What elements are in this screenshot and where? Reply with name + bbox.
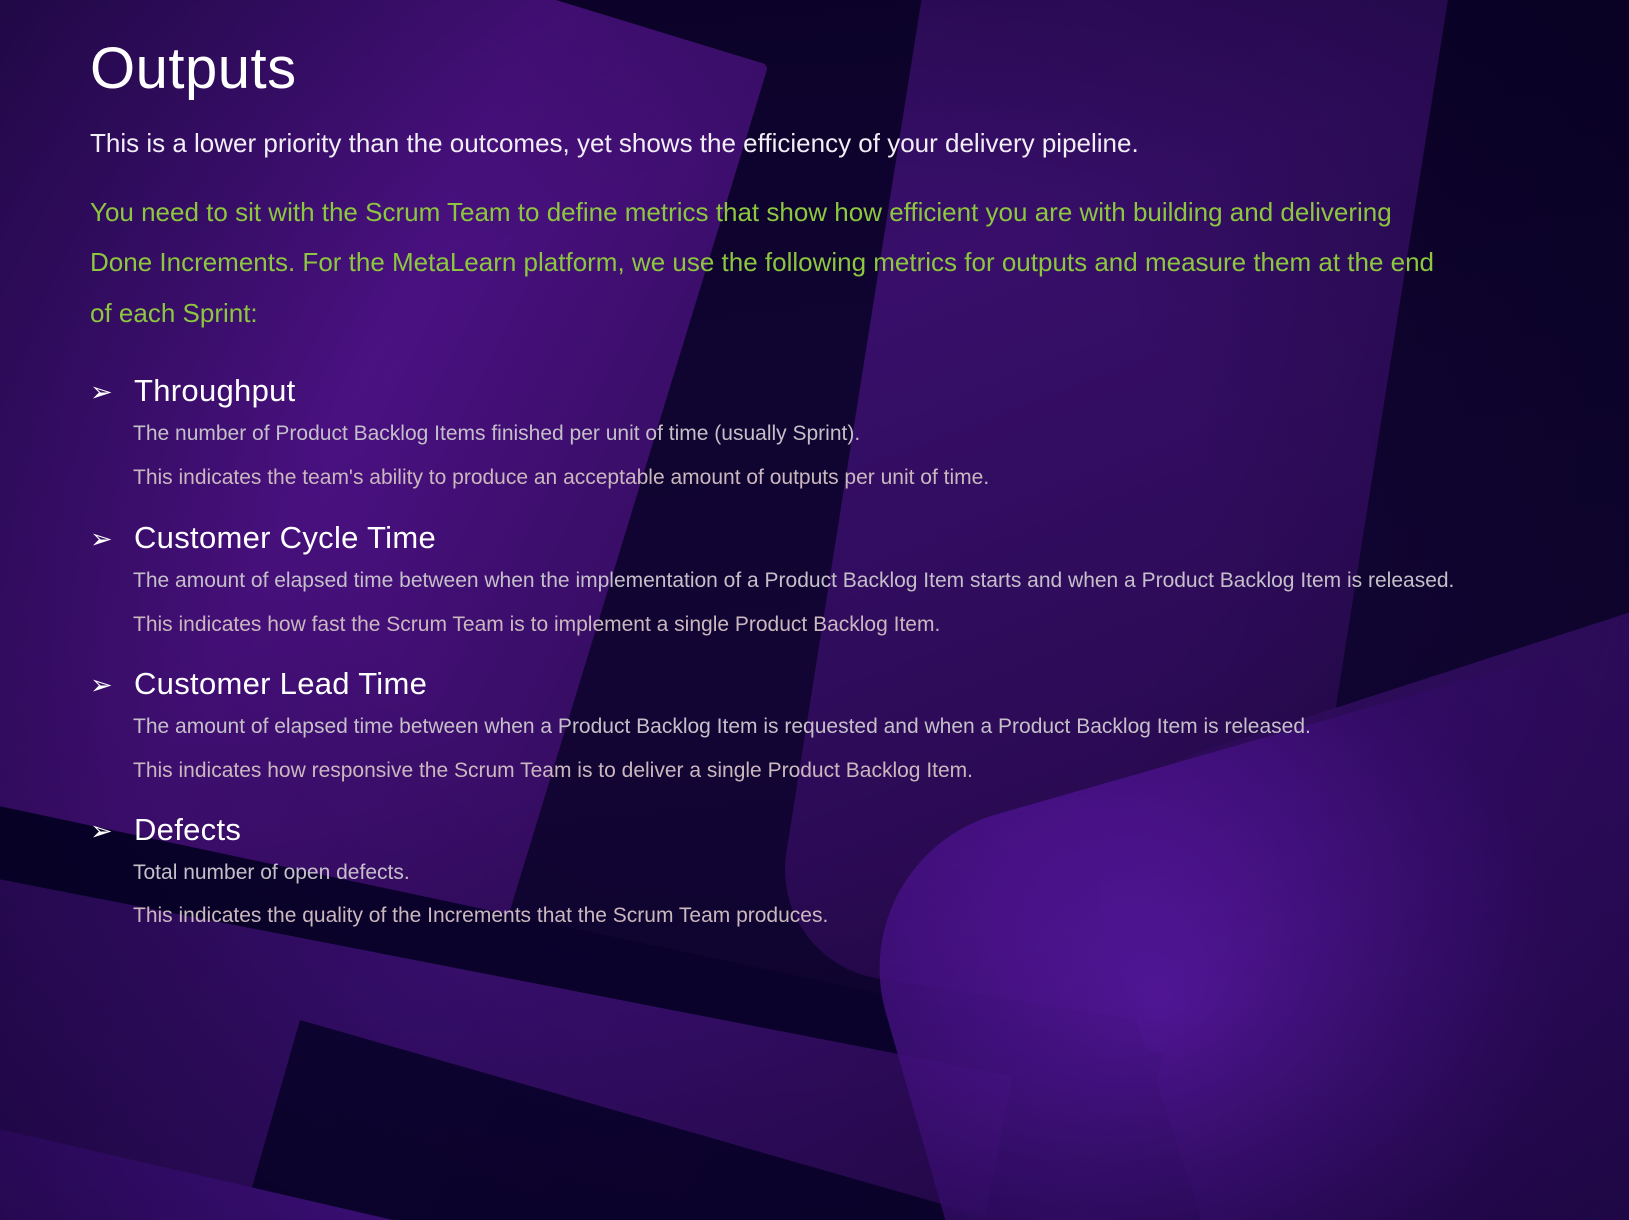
arrow-bullet-icon: ➢ [90, 818, 112, 845]
metric-description: The amount of elapsed time between when … [133, 712, 1473, 742]
metric-heading: ➢ Throughput [90, 373, 1539, 409]
metric-note: This indicates how responsive the Scrum … [133, 756, 1473, 786]
arrow-bullet-icon: ➢ [90, 526, 112, 553]
metric-heading: ➢ Defects [90, 812, 1539, 848]
slide-content: Outputs This is a lower priority than th… [0, 0, 1629, 931]
metric-name: Defects [134, 812, 241, 848]
slide-canvas: Outputs This is a lower priority than th… [0, 0, 1629, 1220]
highlight-paragraph: You need to sit with the Scrum Team to d… [90, 187, 1435, 339]
arrow-bullet-icon: ➢ [90, 379, 112, 406]
metric-item: ➢ Defects Total number of open defects. … [90, 812, 1539, 932]
metric-name: Throughput [134, 373, 296, 409]
metric-note: This indicates the team's ability to pro… [133, 463, 1473, 493]
page-title: Outputs [90, 34, 1539, 104]
metric-name: Customer Lead Time [134, 666, 427, 702]
lead-paragraph: This is a lower priority than the outcom… [90, 126, 1450, 161]
background-wedge-bright [0, 1060, 1162, 1220]
metric-description: Total number of open defects. [133, 858, 1473, 888]
metric-note: This indicates the quality of the Increm… [133, 901, 1473, 931]
arrow-bullet-icon: ➢ [90, 672, 112, 699]
metric-heading: ➢ Customer Lead Time [90, 666, 1539, 702]
metric-name: Customer Cycle Time [134, 520, 436, 556]
metric-note: This indicates how fast the Scrum Team i… [133, 610, 1473, 640]
metric-description: The amount of elapsed time between when … [133, 566, 1473, 596]
background-wedge-mid-dark [184, 1020, 1629, 1220]
metric-item: ➢ Throughput The number of Product Backl… [90, 373, 1539, 493]
metric-heading: ➢ Customer Cycle Time [90, 520, 1539, 556]
metric-item: ➢ Customer Lead Time The amount of elaps… [90, 666, 1539, 786]
metric-item: ➢ Customer Cycle Time The amount of elap… [90, 520, 1539, 640]
metric-description: The number of Product Backlog Items fini… [133, 419, 1473, 449]
